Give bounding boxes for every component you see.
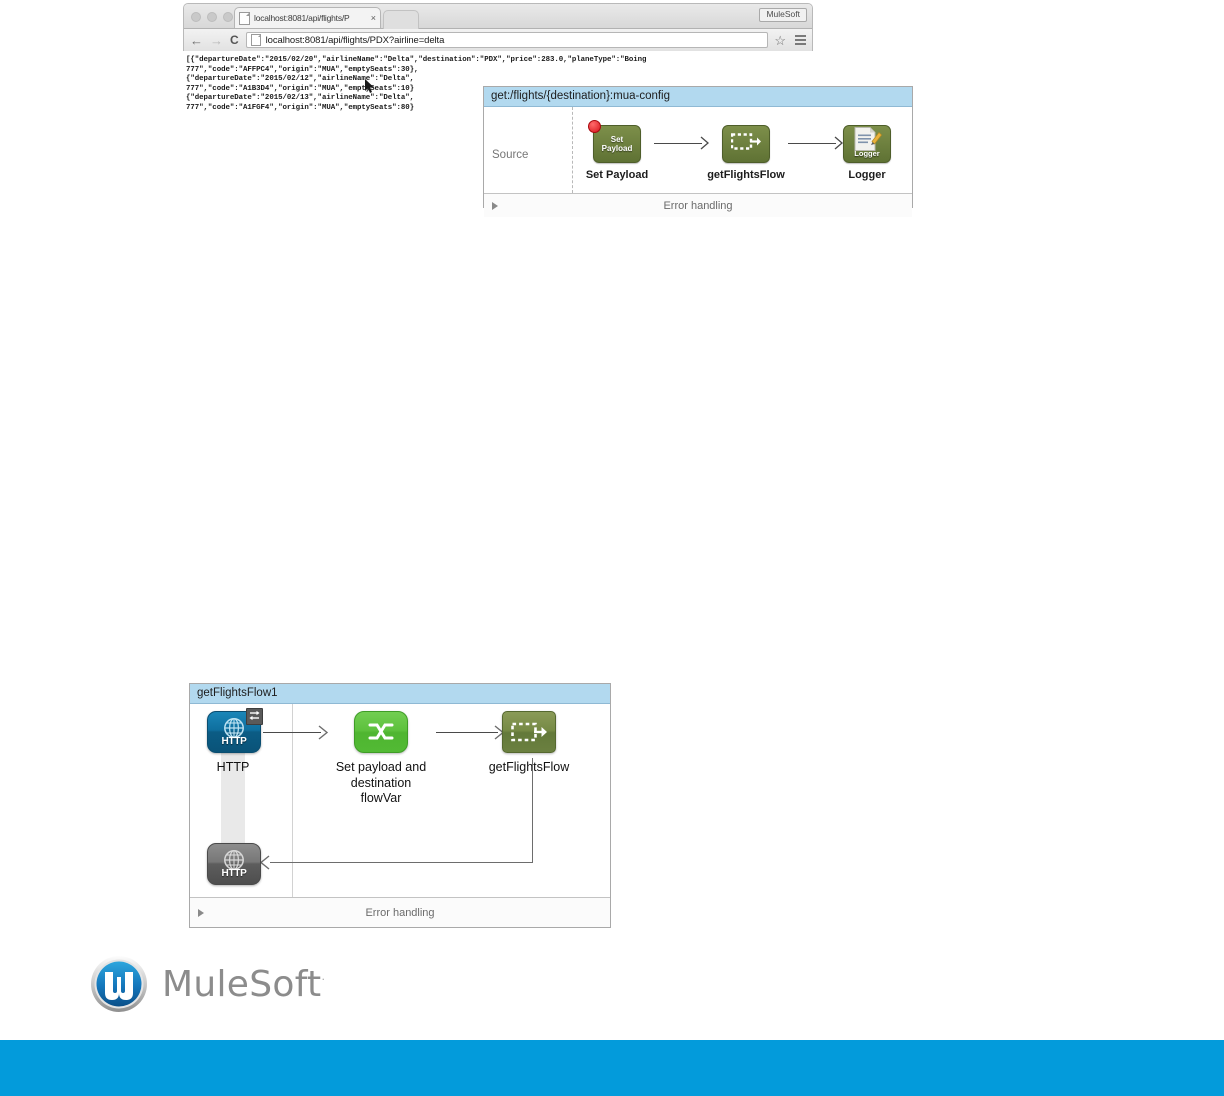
back-icon[interactable]: ← [190,34,203,47]
node-set-payload-transform[interactable]: Set payload anddestinationflowVar [329,711,433,807]
mulesoft-wordmark-text: MuleSoft [162,964,321,1005]
exchange-arrows-icon [246,708,263,725]
connector-2 [788,143,836,144]
connector-1 [654,143,702,144]
node-caption: HTTP [207,760,259,776]
source-lane: Source [484,107,573,193]
node-http-listener[interactable]: HTTP HTTP [207,711,259,776]
mulesoft-mark-icon [90,955,148,1013]
impl-flow-error-handling-bar[interactable]: Error handling [190,897,610,927]
forward-icon[interactable]: → [210,34,223,47]
http-response-tile-text: HTTP [208,868,260,879]
error-handling-label: Error handling [498,200,898,212]
node-caption: Logger [832,169,902,181]
browser-menu-icon[interactable] [795,35,806,45]
reload-icon[interactable]: C [230,34,239,46]
api-flow-error-handling-bar[interactable]: Error handling [484,193,912,217]
flow-reference-icon[interactable] [722,125,770,163]
connector-a [263,732,321,733]
close-tab-icon[interactable]: × [371,14,376,23]
mulesoft-badge: MuleSoft [759,8,807,22]
browser-tab[interactable]: localhost:8081/api/flights/P × [234,7,381,28]
logger-tile-text: Logger [844,149,890,158]
mulesoft-wordmark: MuleSoft· [162,964,325,1005]
node-caption: getFlightsFlow [474,760,584,776]
api-flow-canvas: get:/flights/{destination}:mua-config So… [483,86,913,208]
address-bar[interactable]: localhost:8081/api/flights/PDX?airline=d… [246,32,769,48]
document-icon [251,34,261,46]
node-caption: Set Payload [581,169,653,181]
breakpoint-icon[interactable] [588,120,601,133]
browser-window: localhost:8081/api/flights/P × MuleSoft … [183,3,813,51]
window-traffic-lights[interactable] [191,12,233,22]
mulesoft-trademark: · [321,973,325,986]
transform-icon[interactable] [354,711,408,753]
impl-flow-header: getFlightsFlow1 [190,684,610,704]
bookmark-star-icon[interactable]: ☆ [774,34,786,47]
return-path-vertical [532,758,533,863]
set-payload-icon[interactable]: SetPayload [593,125,641,163]
node-get-flights-flow[interactable]: getFlightsFlow [706,125,786,181]
browser-tab-title: localhost:8081/api/flights/P [254,13,368,23]
api-flow-body: Source SetPayload Set Payload [484,107,912,193]
node-caption: getFlightsFlow [706,169,786,181]
set-payload-tile-text: SetPayload [594,135,640,153]
flow-reference-icon[interactable] [502,711,556,753]
node-http-response[interactable]: HTTP [207,843,259,885]
minimize-window-button[interactable] [207,12,217,22]
http-listener-tile-text: HTTP [208,736,260,747]
mulesoft-logo: MuleSoft· [90,955,325,1013]
return-path-horizontal [270,862,533,863]
address-bar-url: localhost:8081/api/flights/PDX?airline=d… [266,35,445,46]
browser-toolbar: ← → C localhost:8081/api/flights/PDX?air… [184,29,812,51]
http-response-icon[interactable]: HTTP [207,843,261,885]
bottom-accent-bar [0,1040,1224,1096]
api-flow-header: get:/flights/{destination}:mua-config [484,87,912,107]
source-label: Source [492,149,528,161]
new-tab-button[interactable] [383,10,419,29]
impl-flow-canvas: getFlightsFlow1 HTTP [189,683,611,928]
node-set-payload[interactable]: SetPayload Set Payload [581,125,653,181]
close-window-button[interactable] [191,12,201,22]
maximize-window-button[interactable] [223,12,233,22]
error-handling-label: Error handling [204,907,596,919]
node-logger[interactable]: Logger Logger [832,125,902,181]
node-caption: Set payload anddestinationflowVar [329,760,433,807]
http-listener-icon[interactable]: HTTP [207,711,261,753]
page-favicon-icon [239,12,250,25]
node-flow-reference[interactable]: getFlightsFlow [474,711,584,776]
logger-icon[interactable]: Logger [843,125,891,163]
impl-flow-body: HTTP HTTP [190,704,610,897]
browser-tabstrip: localhost:8081/api/flights/P × MuleSoft [184,4,812,29]
